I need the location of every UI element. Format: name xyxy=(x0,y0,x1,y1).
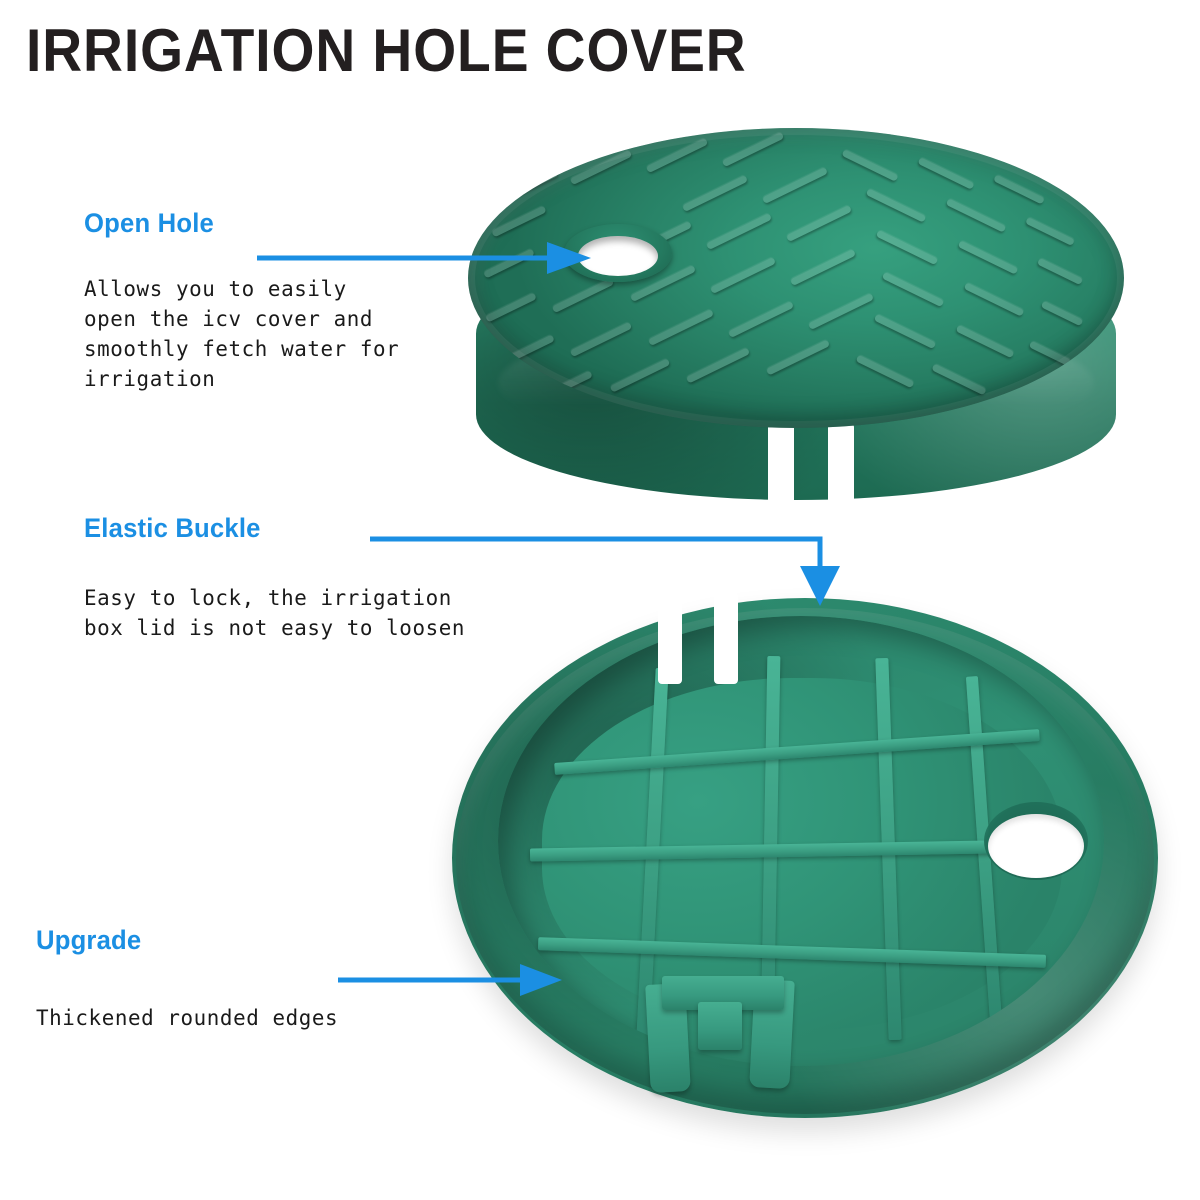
arrow-upgrade xyxy=(336,958,566,1002)
callout-open-hole-heading: Open Hole xyxy=(84,208,393,239)
arrow-open-hole xyxy=(255,238,595,282)
arrow-elastic-buckle xyxy=(368,520,848,610)
page-title: IRRIGATION HOLE COVER xyxy=(26,16,747,85)
cover-buckle-slot-right xyxy=(828,424,854,510)
buckle-center-web xyxy=(698,1002,742,1050)
product-underside-image xyxy=(452,598,1172,1138)
callout-upgrade: Upgrade Thickened rounded edges xyxy=(36,925,348,1034)
bowl-open-hole xyxy=(988,814,1084,878)
callout-upgrade-body: Thickened rounded edges xyxy=(36,1004,338,1034)
callout-open-hole-body: Allows you to easily open the icv cover … xyxy=(84,275,399,395)
bowl-inner-cavity xyxy=(498,616,1104,1066)
product-top-cover-image xyxy=(468,128,1128,508)
callout-upgrade-heading: Upgrade xyxy=(36,925,332,956)
infographic-canvas: IRRIGATION HOLE COVER xyxy=(0,0,1200,1200)
cover-buckle-slot-left xyxy=(768,424,794,510)
callout-open-hole: Open Hole Allows you to easily open the … xyxy=(84,208,409,395)
